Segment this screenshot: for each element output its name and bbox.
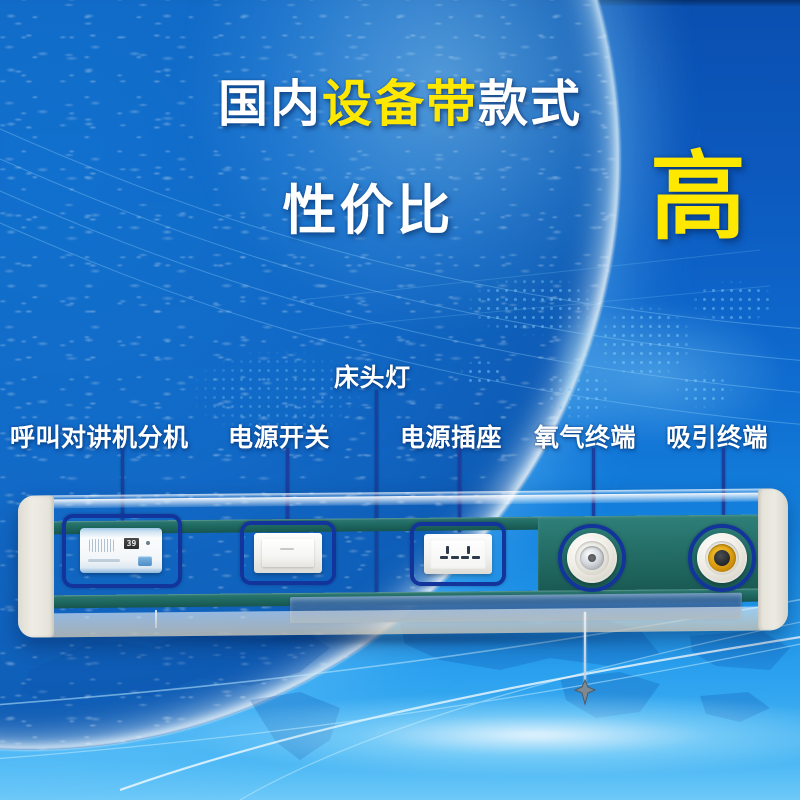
panel-top-highlight: [26, 492, 780, 508]
headline-line-2: 性价比: [283, 166, 454, 245]
headline-line-2-row: 性价比 高: [0, 160, 800, 240]
headline-part-1: 国内: [218, 76, 322, 132]
panel-end-cap-right: [758, 488, 788, 630]
callout-label-switch: 电源开关: [228, 418, 330, 454]
intercom-cord: [155, 610, 157, 628]
highlight-marker-intercom: [62, 514, 182, 588]
pull-cord-icon[interactable]: [571, 678, 599, 706]
callout-label-bed-lamp: 床头灯: [334, 358, 411, 394]
highlight-marker-socket: [410, 522, 506, 586]
callout-label-socket: 电源插座: [400, 418, 502, 454]
headline-part-2: 设备带: [322, 76, 478, 132]
panel-end-cap-left: [18, 495, 54, 637]
highlight-marker-oxygen: [558, 524, 626, 592]
pull-cord-line[interactable]: [584, 612, 586, 686]
headline-emphasis: 高: [650, 150, 746, 246]
highlight-marker-suction: [688, 524, 756, 592]
panel-bottom-edge: [24, 606, 782, 637]
bottom-glow-band: [0, 690, 800, 800]
headline-part-3: 款式: [478, 76, 582, 132]
poster-canvas: 国内设备带款式 性价比 高 呼叫对讲机分机 电源开关 床头灯 电源插座 氧气终端…: [0, 0, 800, 800]
headline-line-1: 国内设备带款式: [0, 78, 800, 131]
callout-label-intercom: 呼叫对讲机分机: [10, 418, 189, 454]
headline-block: 国内设备带款式: [0, 78, 800, 131]
callout-label-oxygen: 氧气终端: [534, 418, 636, 454]
highlight-marker-switch: [240, 521, 336, 585]
callout-label-suction: 吸引终端: [666, 418, 768, 454]
